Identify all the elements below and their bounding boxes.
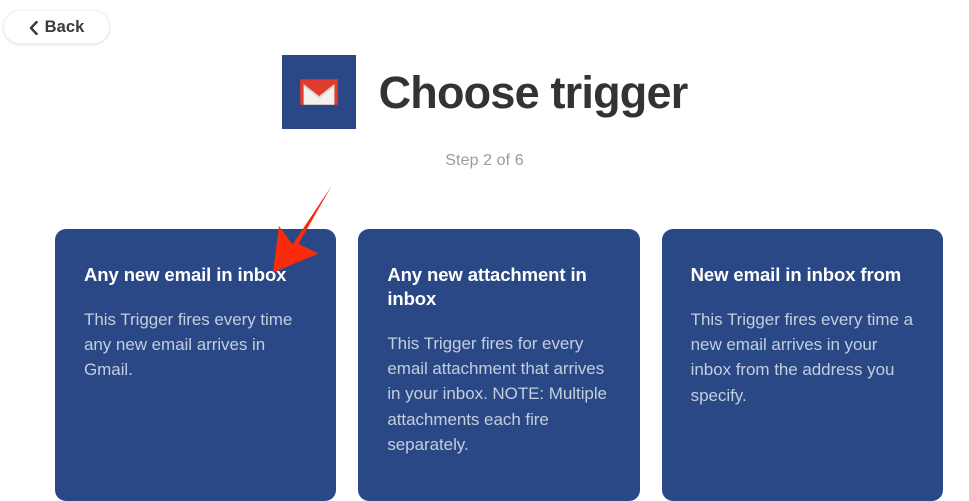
page-header: Choose trigger	[0, 52, 969, 132]
trigger-card-new-email-in-inbox-from[interactable]: New email in inbox from This Trigger fir…	[662, 229, 943, 501]
trigger-card-list: Any new email in inbox This Trigger fire…	[55, 229, 943, 501]
trigger-card-title: Any new attachment in inbox	[387, 263, 614, 311]
trigger-card-title: Any new email in inbox	[84, 263, 311, 287]
page-title: Choose trigger	[379, 70, 688, 115]
chevron-left-icon	[29, 21, 38, 35]
gmail-icon	[282, 55, 356, 129]
trigger-card-any-new-email-in-inbox[interactable]: Any new email in inbox This Trigger fire…	[55, 229, 336, 501]
trigger-card-description: This Trigger fires every time any new em…	[84, 307, 311, 382]
trigger-card-any-new-attachment-in-inbox[interactable]: Any new attachment in inbox This Trigger…	[358, 229, 639, 501]
back-button[interactable]: Back	[3, 10, 110, 44]
trigger-card-title: New email in inbox from	[691, 263, 918, 287]
back-button-label: Back	[45, 19, 85, 36]
step-indicator: Step 2 of 6	[0, 152, 969, 170]
trigger-card-description: This Trigger fires every time a new emai…	[691, 307, 918, 408]
trigger-card-description: This Trigger fires for every email attac…	[387, 331, 614, 457]
